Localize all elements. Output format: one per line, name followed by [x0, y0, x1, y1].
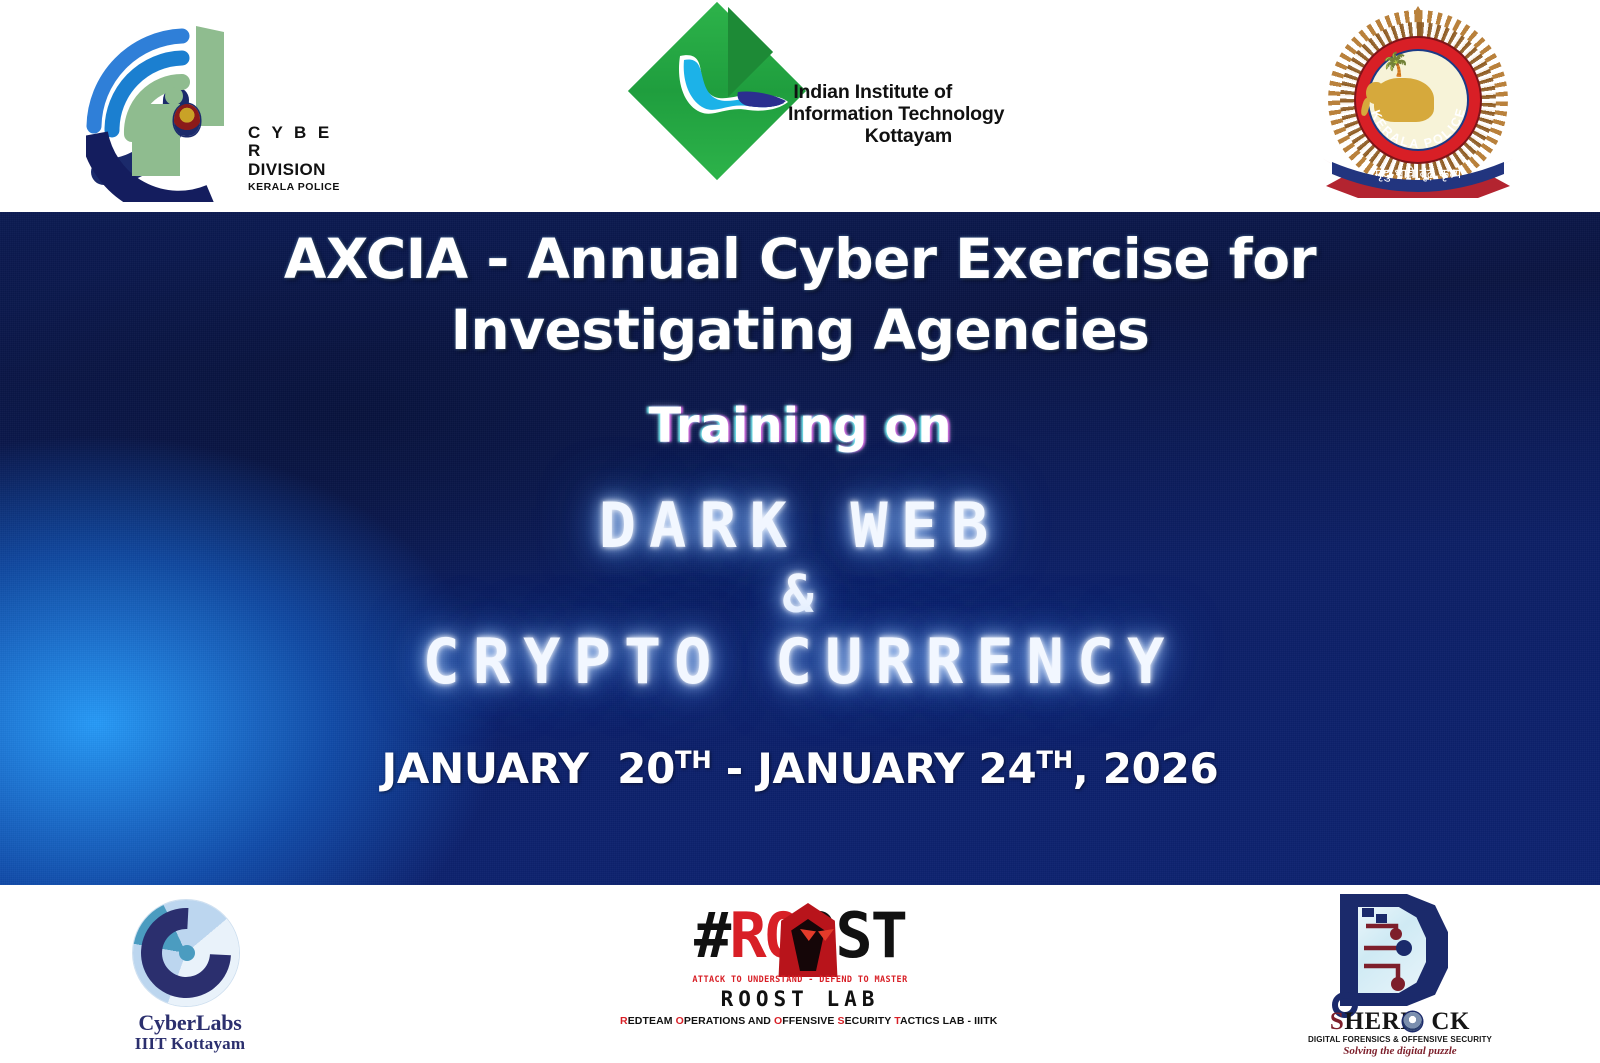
- sherlock-initial-s: S: [1330, 1008, 1345, 1035]
- cyberlabs-logo: CyberLabs IIIT Kottayam: [95, 898, 285, 1058]
- date-end-suffix: TH: [1036, 745, 1072, 774]
- roost-initial-o1: O: [676, 1015, 684, 1027]
- event-title-line2: Investigating Agencies: [150, 303, 1450, 358]
- date-end-month: JANUARY: [757, 744, 964, 793]
- roost-wordmark-tail: T: [871, 899, 906, 972]
- date-separator: -: [711, 744, 757, 793]
- roost-hash: #: [694, 899, 729, 972]
- kerala-police-emblem-logo: 🌴 KERALA POLICE मृदु भावे दृढ़ कृत्ये: [1318, 4, 1518, 204]
- roost-lab-name: ROOST LAB: [620, 987, 980, 1011]
- date-start-day: 20: [617, 744, 675, 793]
- date-end-day: 24: [979, 744, 1037, 793]
- sherlock-name-tail: CK: [1431, 1008, 1470, 1035]
- cyberlabs-line2: IIIT Kottayam: [95, 1034, 285, 1054]
- topic-crypto-currency: CRYPTO CURRENCY: [423, 630, 1178, 693]
- iiit-kottayam-logo: Indian Institute of Information Technolo…: [650, 22, 950, 202]
- cyber-division-line2: DIVISION: [248, 161, 348, 179]
- roost-word-security: ECURITY: [845, 1015, 895, 1027]
- roost-word-redteam: EDTEAM: [628, 1015, 676, 1027]
- roost-full-name: REDTEAM OPERATIONS AND OFFENSIVE SECURIT…: [620, 1015, 980, 1027]
- event-title-line1: AXCIA - Annual Cyber Exercise for: [150, 232, 1450, 287]
- cyber-division-green-block: [132, 104, 180, 176]
- roost-tagline: ATTACK TO UNDERSTAND - DEFEND TO MASTER: [620, 975, 980, 985]
- date-start-month: JANUARY: [382, 744, 589, 793]
- date-start-suffix: TH: [675, 745, 711, 774]
- topic-dark-web: DARK WEB: [599, 494, 1002, 557]
- cyber-division-line1: C Y B E R: [248, 124, 348, 161]
- top-logo-band: C Y B E R DIVISION KERALA POLICE Indian …: [0, 0, 1600, 212]
- cyber-division-green-bar: [196, 26, 224, 126]
- kerala-police-mini-emblem-icon: [174, 104, 200, 136]
- cyberlabs-center-dot-icon: [179, 945, 195, 961]
- kerala-police-motto: मृदु भावे दृढ़ कृत्ये: [1318, 164, 1518, 182]
- iiit-kottayam-wordmark: Indian Institute of Information Technolo…: [788, 82, 952, 147]
- iiit-line1: Indian Institute of: [788, 82, 952, 104]
- roost-word-operations: PERATIONS AND: [684, 1015, 774, 1027]
- training-on-label: Training on: [649, 398, 952, 454]
- roost-word-tactics: ACTICS LAB - IIITK: [900, 1015, 997, 1027]
- iiit-swoosh-icon: [674, 48, 792, 132]
- sherlock-tagline: DIGITAL FORENSICS & OFFENSIVE SECURITY: [1300, 1035, 1500, 1044]
- roost-word-offensive: FFENSIVE: [782, 1015, 837, 1027]
- cyberlabs-line1: CyberLabs: [95, 1010, 285, 1036]
- circuit-trace-icon: [1352, 900, 1448, 1004]
- hero-banner: AXCIA - Annual Cyber Exercise for Invest…: [0, 212, 1600, 885]
- sherlock-d-letter-icon: [1340, 894, 1448, 1006]
- roost-initial-s: S: [837, 1015, 844, 1027]
- cyber-division-line3: KERALA POLICE: [248, 181, 348, 193]
- topic-ampersand: &: [782, 569, 817, 622]
- roost-initial-r: R: [620, 1015, 628, 1027]
- iiit-line2: Information Technology: [788, 104, 952, 126]
- sherlock-wordmark: SHERL CK: [1300, 1008, 1500, 1036]
- event-date-range: JANUARY 20TH - JANUARY 24TH, 2026: [382, 744, 1219, 793]
- sherlock-slogan: Solving the digital puzzle: [1300, 1045, 1500, 1057]
- roost-lab-logo: #ROOST ATTACK TO UNDERSTAND - DEFEND TO …: [620, 895, 980, 1030]
- iiit-line3: Kottayam: [788, 126, 952, 148]
- cyber-division-logo: C Y B E R DIVISION KERALA POLICE: [72, 18, 350, 203]
- sherlock-logo: SHERL CK DIGITAL FORENSICS & OFFENSIVE S…: [1300, 892, 1500, 1052]
- police-badge-o-icon: [1403, 1012, 1422, 1031]
- date-year: , 2026: [1073, 744, 1219, 793]
